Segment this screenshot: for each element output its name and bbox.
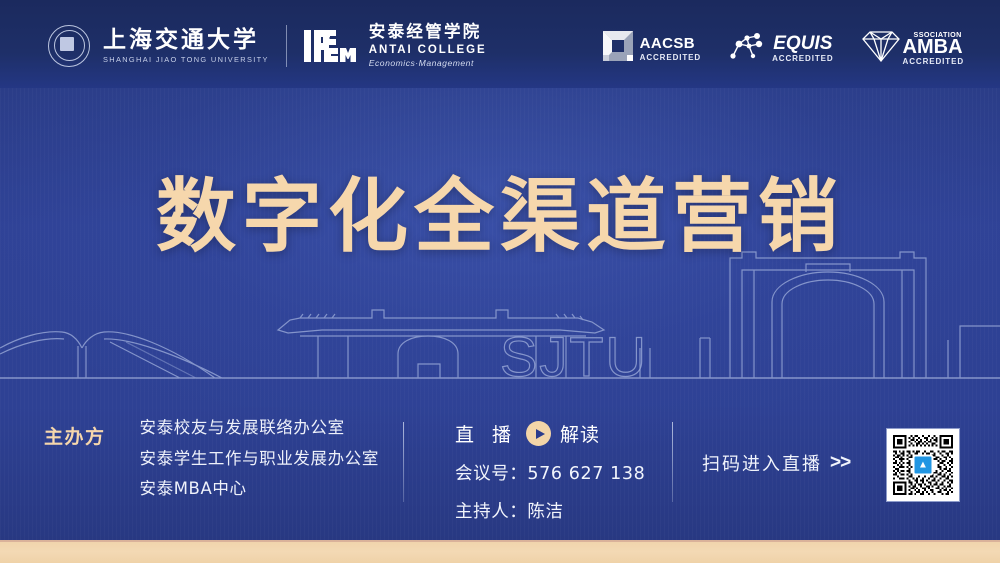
chevron-right-double-icon: >> (830, 452, 850, 474)
aacsb-cube-icon (603, 31, 633, 66)
poster-title: 数字化全渠道营销 (0, 152, 1000, 268)
play-icon[interactable] (526, 421, 551, 446)
organizer-item: 安泰校友与发展联络办公室 (140, 420, 379, 437)
section-divider-left (403, 422, 404, 502)
amba-text: SSOCIATION AMBA ACCREDITED (903, 32, 964, 66)
livestream-label-left: 直 播 (455, 420, 517, 447)
app-logo-icon: ▲ (913, 455, 934, 476)
livestream-label-right: 解读 (560, 420, 600, 447)
sjtu-seal-icon (48, 25, 90, 67)
bottom-accent-bar (0, 540, 1000, 563)
section-divider-right (672, 422, 673, 502)
sjtu-watermark: SJTU (500, 325, 648, 382)
organizer-list: 安泰校友与发展联络办公室 安泰学生工作与职业发展办公室 安泰MBA中心 (140, 420, 379, 498)
bottom-info-row: 主办方 安泰校友与发展联络办公室 安泰学生工作与职业发展办公室 安泰MBA中心 … (0, 400, 1000, 540)
university-name-cn: 上海交通大学 (103, 29, 269, 52)
aacsb-sublabel: ACCREDITED (640, 54, 701, 62)
college-name-en: ANTAI COLLEGE (369, 45, 487, 57)
college-name-cn: 安泰经管学院 (369, 24, 487, 41)
livestream-block: 直 播 解读 会议号：576 627 138 主持人：陈洁 (455, 420, 645, 523)
host-name: 主持人：陈洁 (455, 498, 645, 523)
scan-cta[interactable]: 扫码进入直播 >> (702, 450, 850, 476)
equis-text: EQUIS ACCREDITED (772, 34, 833, 63)
aacsb-text: AACSB ACCREDITED (640, 36, 701, 62)
amba-sublabel: ACCREDITED (903, 58, 964, 66)
scan-cta-label: 扫码进入直播 (702, 450, 822, 476)
equis-network-icon (727, 30, 765, 67)
amba-accreditation-badge: SSOCIATION AMBA ACCREDITED (860, 28, 964, 69)
qr-code-icon[interactable]: ▲ (886, 428, 960, 502)
organizer-label: 主办方 (44, 420, 106, 449)
organizer-item: 安泰学生工作与职业发展办公室 (140, 451, 379, 468)
equis-sublabel: ACCREDITED (772, 55, 833, 63)
university-name-en: SHANGHAI JIAO TONG UNIVERSITY (103, 56, 269, 63)
header-divider (286, 25, 287, 67)
acem-logomark-icon (304, 26, 356, 66)
amba-diamond-icon (860, 28, 902, 69)
amba-label: AMBA (903, 37, 964, 57)
equis-label: EQUIS (772, 34, 833, 53)
aacsb-label: AACSB (640, 35, 695, 52)
app-logo-glyph: ▲ (918, 460, 928, 470)
accreditation-logos: AACSB ACCREDITED (603, 28, 964, 69)
header-bar: 上海交通大学 SHANGHAI JIAO TONG UNIVERSITY (0, 0, 1000, 88)
organizer-block: 主办方 安泰校友与发展联络办公室 安泰学生工作与职业发展办公室 安泰MBA中心 (44, 420, 379, 498)
amba-association-label: SSOCIATION (914, 31, 962, 38)
header-logos: 上海交通大学 SHANGHAI JIAO TONG UNIVERSITY (48, 24, 487, 68)
livestream-heading: 直 播 解读 (455, 420, 645, 447)
aacsb-accreditation-badge: AACSB ACCREDITED (603, 31, 701, 66)
meeting-id: 会议号：576 627 138 (455, 460, 645, 485)
equis-accreditation-badge: EQUIS ACCREDITED (727, 30, 833, 67)
college-tagline: Economics·Management (369, 59, 487, 68)
organizer-item: 安泰MBA中心 (140, 481, 379, 498)
poster-canvas: SJTU 上海交通大学 SHANGHAI JIAO TONG UNIVERSIT… (0, 0, 1000, 563)
university-wordmark: 上海交通大学 SHANGHAI JIAO TONG UNIVERSITY (103, 29, 269, 63)
college-wordmark: 安泰经管学院 ANTAI COLLEGE Economics·Managemen… (369, 24, 487, 68)
play-triangle (536, 429, 545, 439)
